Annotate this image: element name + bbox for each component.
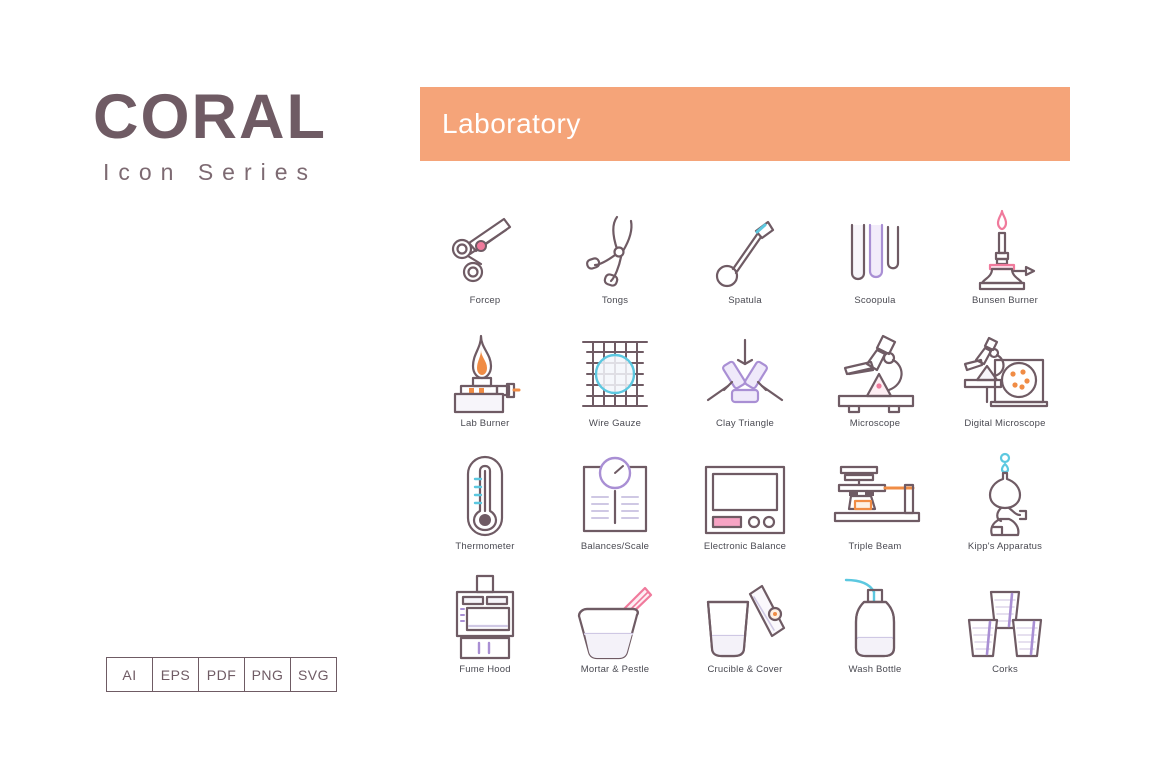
icon-cell-wire-gauze[interactable]: Wire Gauze [550,328,680,451]
forcep-icon [430,205,540,291]
wash-bottle-icon [820,574,930,660]
triple-beam-icon [820,451,930,537]
crucible-cover-icon [690,574,800,660]
icon-label: Digital Microscope [964,418,1045,429]
icon-cell-scoopula[interactable]: Scoopula [810,205,940,328]
bunsen-burner-icon [950,205,1060,291]
fume-hood-icon [430,574,540,660]
icon-cell-crucible-cover[interactable]: Crucible & Cover [680,574,810,697]
icon-label: Spatula [728,295,762,306]
brand-block: CORAL Icon Series [0,86,420,184]
icon-label: Clay Triangle [716,418,774,429]
icon-set-preview-page: CORAL Icon Series AI EPS PDF PNG SVG Lab… [0,0,1170,780]
icon-cell-wash-bottle[interactable]: Wash Bottle [810,574,940,697]
icon-cell-triple-beam[interactable]: Triple Beam [810,451,940,574]
icon-grid: Forcep Tongs [420,205,1070,697]
icon-cell-kipps-apparatus[interactable]: Kipp's Apparatus [940,451,1070,574]
brand-subtitle: Icon Series [0,161,420,184]
icon-cell-bunsen-burner[interactable]: Bunsen Burner [940,205,1070,328]
mortar-pestle-icon [560,574,670,660]
icon-label: Corks [992,664,1018,675]
icon-label: Thermometer [455,541,514,552]
corks-icon [950,574,1060,660]
icon-cell-microscope[interactable]: Microscope [810,328,940,451]
icon-label: Tongs [602,295,628,306]
clay-triangle-icon [690,328,800,414]
icon-label: Triple Beam [848,541,901,552]
format-badges: AI EPS PDF PNG SVG [106,657,337,692]
icon-label: Bunsen Burner [972,295,1038,306]
icon-cell-electronic-balance[interactable]: Electronic Balance [680,451,810,574]
icon-label: Scoopula [854,295,895,306]
icon-label: Forcep [470,295,501,306]
icon-label: Wash Bottle [848,664,901,675]
icon-label: Wire Gauze [589,418,641,429]
format-badge-svg[interactable]: SVG [291,658,336,691]
icon-label: Microscope [850,418,901,429]
icon-cell-fume-hood[interactable]: Fume Hood [420,574,550,697]
icon-label: Kipp's Apparatus [968,541,1042,552]
spatula-icon [690,205,800,291]
icon-cell-balances-scale[interactable]: Balances/Scale [550,451,680,574]
balances-scale-icon [560,451,670,537]
icon-cell-forcep[interactable]: Forcep [420,205,550,328]
tongs-icon [560,205,670,291]
lab-burner-icon [430,328,540,414]
icon-label: Balances/Scale [581,541,649,552]
icon-label: Fume Hood [459,664,510,675]
icon-cell-thermometer[interactable]: Thermometer [420,451,550,574]
brand-title: CORAL [0,86,420,149]
icon-cell-corks[interactable]: Corks [940,574,1070,697]
format-badge-pdf[interactable]: PDF [199,658,245,691]
scoopula-icon [820,205,930,291]
wire-gauze-icon [560,328,670,414]
icon-label: Electronic Balance [704,541,786,552]
microscope-icon [820,328,930,414]
thermometer-icon [430,451,540,537]
kipps-apparatus-icon [950,451,1060,537]
icon-cell-digital-microscope[interactable]: Digital Microscope [940,328,1070,451]
icon-cell-tongs[interactable]: Tongs [550,205,680,328]
icon-cell-clay-triangle[interactable]: Clay Triangle [680,328,810,451]
format-badge-eps[interactable]: EPS [153,658,199,691]
icon-label: Mortar & Pestle [581,664,649,675]
electronic-balance-icon [690,451,800,537]
category-banner: Laboratory [420,87,1070,161]
icon-cell-mortar-pestle[interactable]: Mortar & Pestle [550,574,680,697]
icon-label: Crucible & Cover [707,664,782,675]
category-title: Laboratory [442,108,581,140]
digital-microscope-icon [950,328,1060,414]
format-badge-png[interactable]: PNG [245,658,291,691]
icon-cell-spatula[interactable]: Spatula [680,205,810,328]
format-badge-ai[interactable]: AI [107,658,153,691]
icon-label: Lab Burner [460,418,509,429]
icon-cell-lab-burner[interactable]: Lab Burner [420,328,550,451]
